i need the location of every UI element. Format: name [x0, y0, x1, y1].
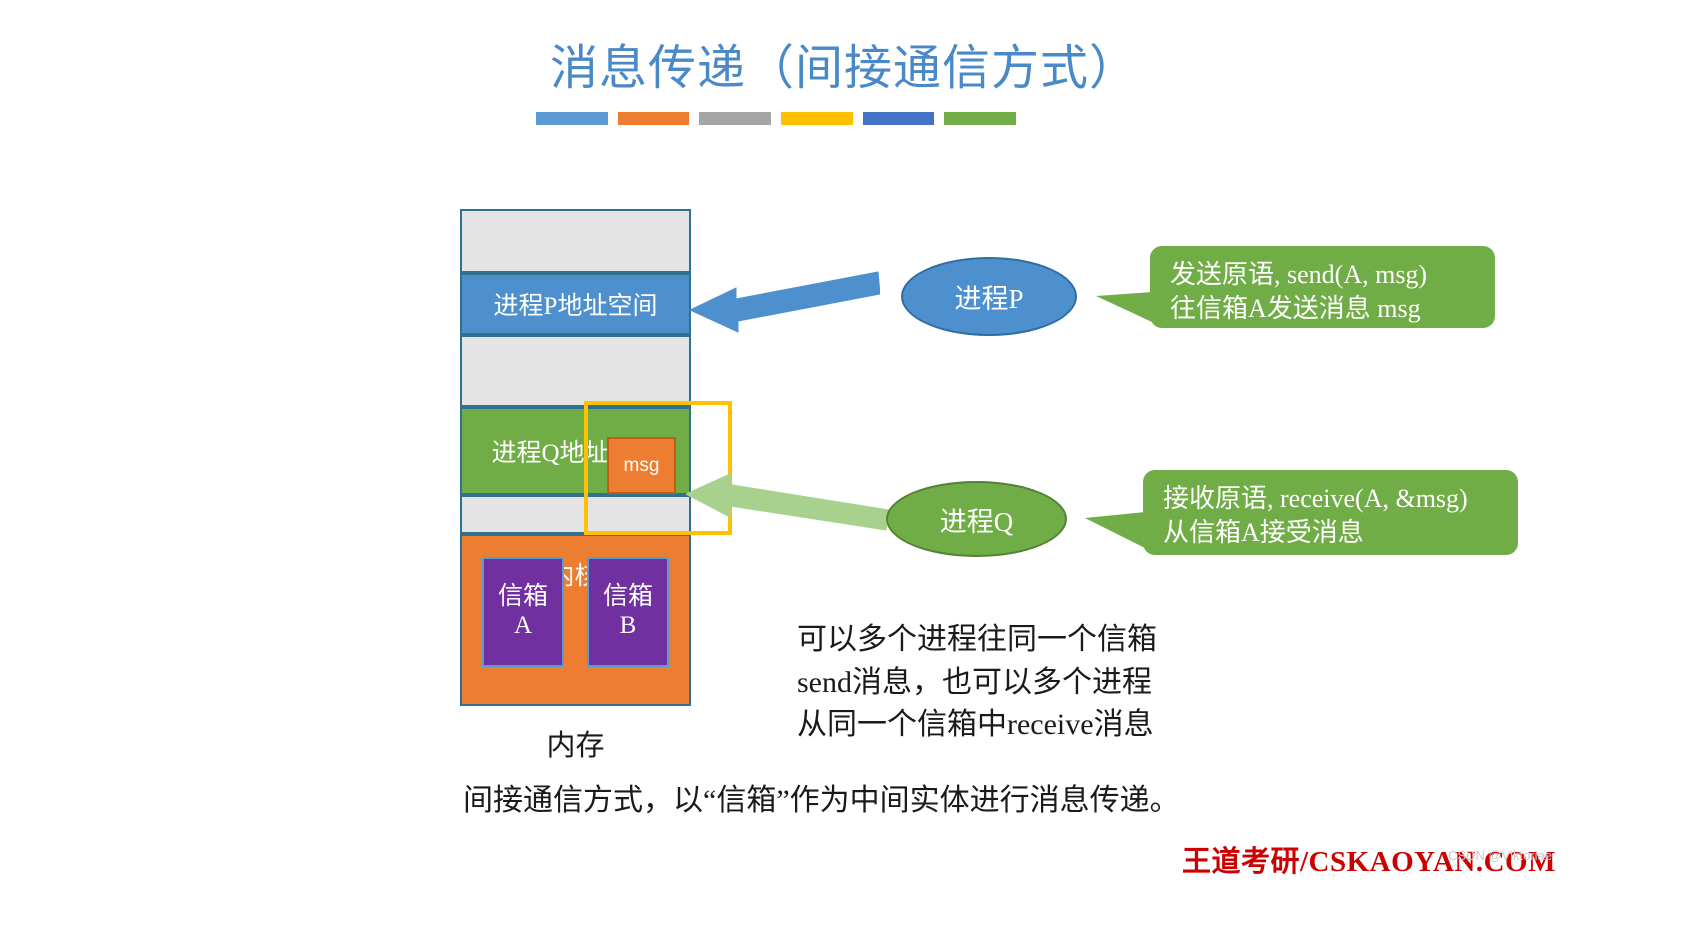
send-callout-line-2: 往信箱A发送消息 msg	[1170, 292, 1477, 326]
accent-bar-green	[944, 112, 1016, 125]
accent-bar-orange	[618, 112, 690, 125]
receive-callout-line-1: 接收原语, receive(A, &msg)	[1163, 482, 1500, 516]
memory-segment-process-p: 进程P地址空间	[462, 273, 689, 335]
note-line-2: send消息，也可以多个进程	[797, 662, 1157, 705]
note-line-3: 从同一个信箱中receive消息	[797, 704, 1157, 747]
accent-bar-gray	[699, 112, 771, 125]
mailbox-b-id: B	[620, 612, 637, 641]
accent-bar-blue	[536, 112, 608, 125]
memory-segment-free-1	[462, 211, 689, 273]
accent-bar-indigo	[863, 112, 935, 125]
memory-caption: 内存	[460, 722, 691, 764]
note-line-1: 可以多个进程往同一个信箱	[797, 619, 1157, 662]
highlight-rectangle	[584, 401, 732, 535]
bottom-statement: 间接通信方式，以“信箱”作为中间实体进行消息传递。	[463, 775, 1180, 819]
send-arrow-icon	[690, 258, 880, 336]
mailbox-a-title: 信箱	[498, 583, 548, 612]
explanatory-note: 可以多个进程往同一个信箱 send消息，也可以多个进程 从同一个信箱中recei…	[797, 619, 1157, 747]
page-title: 消息传递（间接通信方式）	[0, 28, 1688, 98]
mailbox-b-title: 信箱	[603, 583, 653, 612]
process-p-node: 进程P	[901, 257, 1077, 336]
title-accent-bars	[536, 112, 1016, 125]
receive-callout-tail	[1085, 512, 1145, 548]
process-q-node: 进程Q	[886, 481, 1067, 557]
send-callout-line-1: 发送原语, send(A, msg)	[1170, 258, 1477, 292]
receive-callout: 接收原语, receive(A, &msg) 从信箱A接受消息	[1143, 470, 1518, 555]
mailbox-b: 信箱 B	[587, 557, 669, 667]
slide-canvas: 消息传递（间接通信方式） 进程P地址空间 进程Q地址空间 内核区 信箱 A 信箱…	[0, 0, 1688, 940]
memory-segment-free-2	[462, 335, 689, 407]
accent-bar-yellow	[781, 112, 853, 125]
send-callout: 发送原语, send(A, msg) 往信箱A发送消息 msg	[1150, 246, 1495, 328]
mailbox-a-id: A	[514, 612, 532, 641]
mailbox-a: 信箱 A	[482, 557, 564, 667]
csdn-watermark: CSDN @Viktoriae	[1448, 848, 1552, 863]
send-callout-tail	[1096, 292, 1152, 322]
receive-callout-line-2: 从信箱A接受消息	[1163, 516, 1500, 550]
